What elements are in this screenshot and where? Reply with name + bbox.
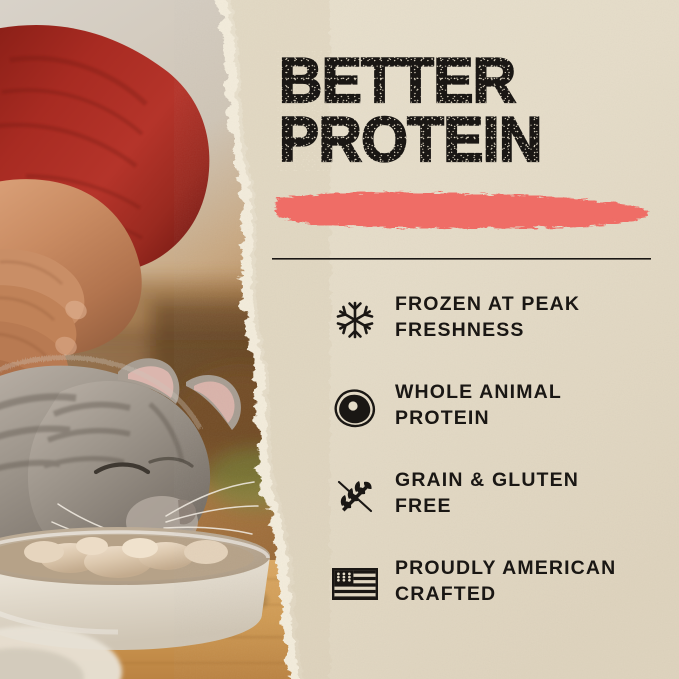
- headline: BETTER PROTEIN: [279, 52, 659, 169]
- feature-label-frozen: FROZEN AT PEAK FRESHNESS: [395, 291, 580, 343]
- feature-item-frozen: FROZEN AT PEAK FRESHNESS: [326, 291, 656, 379]
- feature-line-1: WHOLE ANIMAL: [395, 381, 562, 403]
- headline-line-1: BETTER: [279, 52, 640, 111]
- feature-line-1: PROUDLY AMERICAN: [395, 557, 616, 579]
- red-brush-stroke: [271, 186, 659, 232]
- feature-line-2: FREE: [395, 493, 579, 519]
- snowflake-icon: [326, 295, 384, 345]
- wheat-free-icon: [326, 471, 384, 521]
- feature-line-1: GRAIN & GLUTEN: [395, 469, 579, 491]
- paper-content: BETTER PROTEIN: [0, 0, 679, 679]
- feature-label-american: PROUDLY AMERICAN CRAFTED: [395, 555, 616, 607]
- feature-label-protein: WHOLE ANIMAL PROTEIN: [395, 379, 562, 431]
- feature-line-2: CRAFTED: [395, 581, 616, 607]
- steak-icon: [326, 383, 384, 433]
- feature-line-2: PROTEIN: [395, 405, 562, 431]
- feature-item-protein: WHOLE ANIMAL PROTEIN: [326, 379, 656, 467]
- feature-list: FROZEN AT PEAK FRESHNESS WHOLE ANIMAL PR…: [326, 291, 656, 643]
- marketing-banner: BETTER PROTEIN: [0, 0, 679, 679]
- feature-item-grain-free: GRAIN & GLUTEN FREE: [326, 467, 656, 555]
- divider-rule: [272, 258, 651, 260]
- feature-label-grain-free: GRAIN & GLUTEN FREE: [395, 467, 579, 519]
- feature-line-1: FROZEN AT PEAK: [395, 293, 580, 315]
- feature-line-2: FRESHNESS: [395, 317, 580, 343]
- us-flag-icon: [326, 559, 384, 609]
- feature-item-american: PROUDLY AMERICAN CRAFTED: [326, 555, 656, 643]
- headline-line-2: PROTEIN: [279, 111, 640, 170]
